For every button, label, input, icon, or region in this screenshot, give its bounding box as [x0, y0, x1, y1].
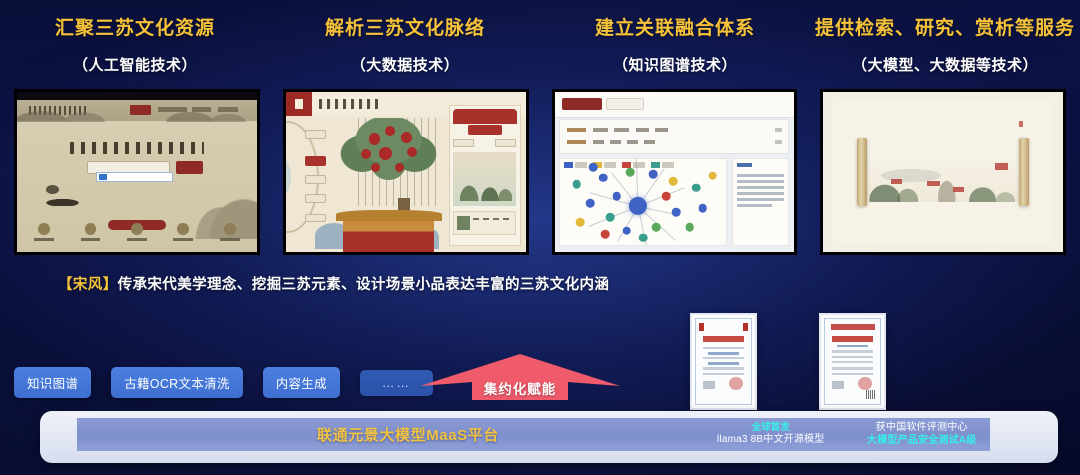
certificate-line: [703, 373, 745, 375]
tree-arc-item: [305, 175, 327, 184]
certificate-signature: [832, 381, 844, 389]
graph-tab-active: [562, 98, 603, 110]
graph-legend: [564, 162, 674, 168]
scroll-building: [953, 187, 964, 192]
pill-content-generation[interactable]: 内容生成: [263, 367, 340, 398]
tree-foliage: [338, 118, 439, 217]
screenshot-panel-portal: [14, 89, 260, 255]
certificate-line: [832, 350, 874, 352]
tree-pavilion: [343, 217, 434, 252]
screenshot-panel-knowledge-graph: [552, 89, 798, 255]
corner-bracket-icon: [1056, 89, 1066, 99]
caption-body: 传承宋代美学理念、挖掘三苏元素、设计场景小品表达丰富的三苏文化内涵: [118, 277, 610, 293]
tree-arc-item: [305, 194, 327, 203]
certificate-quality: [690, 313, 757, 410]
graph-node: [709, 171, 718, 180]
graph-node: [669, 177, 678, 186]
tree-panel-card: [453, 211, 516, 235]
tree-fruit-node: [385, 126, 395, 136]
graph-filter-expand-icon: [775, 140, 781, 144]
presentation-slide: 汇聚三苏文化资源 （人工智能技术） 解析三苏文化脉络 （大数据技术） 建立关联融…: [0, 0, 1080, 475]
certificate-security: [819, 313, 886, 410]
badge-line1: 获中国软件评测中心: [867, 422, 976, 435]
certificate-line: [832, 367, 874, 369]
heading-subtitle-2: （大数据技术）: [270, 54, 540, 75]
graph-filter-value: [593, 128, 608, 132]
corner-bracket-icon: [519, 245, 529, 255]
tree-arc-item-active: [305, 156, 327, 166]
graph-filter-value: [644, 140, 655, 144]
graph-info-line: [737, 180, 784, 183]
heading-column-1: 汇聚三苏文化资源 （人工智能技术）: [0, 0, 270, 88]
graph-node: [576, 218, 585, 227]
screenshot-panel-scroll-painting: [820, 89, 1066, 255]
arrow-label: 集约化赋能: [420, 378, 620, 398]
graph-filter-expand-icon: [775, 128, 781, 132]
scroll-canvas: [833, 102, 1054, 243]
graph-filter-row: [567, 138, 782, 147]
tree-detail-panel: [449, 105, 521, 246]
graph-node: [652, 223, 661, 232]
tree-arc-item: [305, 214, 327, 223]
graph-node: [586, 199, 595, 208]
certificate-border: [695, 318, 752, 405]
badge-global-first: 全球首发 llama3 8B中文开源模型: [717, 422, 824, 446]
heading-title-4: 提供检索、研究、赏析等服务: [810, 13, 1080, 40]
legend-entry: [564, 162, 587, 168]
graph-info-title: [737, 163, 751, 167]
graph-tabbar: [555, 92, 795, 118]
portal-icon-menu: [31, 223, 242, 247]
corner-bracket-icon: [250, 89, 260, 99]
corner-bracket-icon: [552, 245, 562, 255]
portal-menu-icon: [78, 223, 103, 247]
certificate-title: [832, 336, 874, 342]
certificate-line: [837, 345, 868, 348]
certificate-line: [832, 373, 874, 375]
graph-node: [649, 170, 658, 179]
heading-subtitle-1: （人工智能技术）: [0, 54, 270, 75]
graph-info-line: [737, 198, 784, 201]
enablement-arrow: 集约化赋能: [420, 352, 620, 400]
scroll-building: [891, 179, 902, 184]
legend-entry: [622, 162, 645, 168]
graph-node: [589, 163, 598, 172]
graph-info-line: [737, 186, 784, 189]
legend-entry: [651, 162, 674, 168]
tree-panel-painting: [453, 152, 516, 206]
portal-menu-icon: [124, 223, 149, 247]
heading-column-4: 提供检索、研究、赏析等服务 （大模型、大数据等技术）: [810, 0, 1080, 88]
certificate-title: [703, 336, 745, 342]
graph-node: [606, 213, 615, 222]
corner-bracket-icon: [1056, 245, 1066, 255]
portal-search-suggestion: [96, 172, 173, 182]
tree-fruit-node: [407, 147, 417, 157]
corner-bracket-icon: [14, 89, 24, 99]
graph-node: [692, 184, 701, 193]
tree-panel-roof: [453, 109, 517, 124]
heading-column-3: 建立关联融合体系 （知识图谱技术）: [540, 0, 810, 88]
graph-filter-value: [655, 128, 668, 132]
graph-filter-value: [636, 128, 649, 132]
badge-line2: llama3 8B中文开源模型: [717, 434, 824, 447]
certificate-emblem-icon: [699, 323, 704, 331]
graph-node: [601, 230, 610, 239]
scroll-roller-left: [857, 138, 867, 206]
badge-security-grade: 获中国软件评测中心 大模型产品安全测试A级: [867, 422, 976, 447]
certificate-line: [832, 356, 874, 358]
graph-filter-value: [614, 128, 629, 132]
heading-column-2: 解析三苏文化脉络 （大数据技术）: [270, 0, 540, 88]
graph-tab-inactive: [606, 98, 644, 110]
heading-title-1: 汇聚三苏文化资源: [0, 13, 270, 40]
headings-row: 汇聚三苏文化资源 （人工智能技术） 解析三苏文化脉络 （大数据技术） 建立关联融…: [0, 0, 1080, 88]
heading-subtitle-3: （知识图谱技术）: [540, 54, 810, 75]
platform-bar: 联通元景大模型MaaS平台 全球首发 llama3 8B中文开源模型 获中国软件…: [40, 411, 1058, 463]
certificate-qr-icon: [866, 390, 874, 399]
certificate-line: [703, 347, 745, 349]
graph-node: [626, 168, 635, 177]
graph-filter-row: [567, 125, 782, 134]
tree-panel-select: [495, 139, 516, 147]
portal-boat-artwork: [36, 190, 89, 206]
scroll-landscape: [862, 142, 1025, 201]
corner-bracket-icon: [519, 89, 529, 99]
graph-info-panel: [732, 158, 790, 246]
tree-fruit-node: [361, 149, 371, 159]
tree-panel-button: [468, 125, 502, 135]
screenshot-panel-knowledge-tree: [283, 89, 529, 255]
heading-title-3: 建立关联融合体系: [540, 13, 810, 40]
portal-menu-icon: [31, 223, 56, 247]
caption-text: 【宋风】传承宋代美学理念、挖掘三苏元素、设计场景小品表达丰富的三苏文化内涵: [0, 273, 1080, 294]
graph-filter-value: [627, 140, 638, 144]
graph-node: [672, 208, 681, 217]
tree-fruit-node: [401, 132, 412, 143]
scroll-painting-image: [823, 92, 1063, 252]
tree-title: [319, 99, 381, 109]
corner-bracket-icon: [283, 89, 293, 99]
graph-filter-area: [559, 119, 789, 154]
graph-node: [662, 192, 671, 201]
graph-node: [699, 204, 708, 213]
certificate-line: [832, 361, 874, 363]
badge-line1: 全球首发: [717, 422, 824, 434]
scroll-paper: [862, 142, 1025, 201]
tree-arc-item: [305, 130, 327, 139]
capability-pills: 知识图谱 古籍OCR文本清洗 内容生成 ……: [14, 367, 433, 398]
portal-header-mountains: [17, 100, 257, 122]
corner-bracket-icon: [283, 245, 293, 255]
graph-filter-label: [567, 128, 586, 132]
certificate-line: [708, 352, 739, 355]
graph-info-line: [737, 192, 784, 195]
certificate-border: [824, 318, 881, 405]
tree-fruit-node: [379, 147, 392, 160]
corner-bracket-icon: [787, 245, 797, 255]
graph-filter-value: [610, 140, 621, 144]
scroll-building: [995, 163, 1008, 170]
graph-info-line: [737, 174, 784, 177]
graph-node: [573, 180, 582, 189]
tree-panel-select: [453, 139, 474, 147]
corner-bracket-icon: [250, 245, 260, 255]
certificates-group: [690, 313, 886, 410]
graph-node: [599, 173, 608, 182]
certificate-stamp-icon: [858, 377, 872, 391]
scroll-building: [927, 181, 940, 186]
graph-node: [622, 227, 631, 236]
portal-menu-icon: [171, 223, 196, 247]
tree-fruit-node: [369, 133, 380, 144]
corner-bracket-icon: [820, 245, 830, 255]
corner-bracket-icon: [820, 89, 830, 99]
certificate-line: [703, 367, 745, 369]
screenshot-panels-row: [14, 89, 1066, 255]
graph-node: [639, 233, 648, 242]
graph-filter-label: [567, 140, 586, 144]
platform-band: 联通元景大模型MaaS平台 全球首发 llama3 8B中文开源模型 获中国软件…: [77, 418, 990, 451]
certificate-line: [703, 357, 745, 359]
pill-ocr-cleaning[interactable]: 古籍OCR文本清洗: [111, 367, 242, 398]
graph-canvas: [559, 158, 727, 246]
certificate-header: [831, 324, 875, 330]
graph-filter-value: [593, 140, 604, 144]
portal-menu-icon: [217, 223, 242, 247]
caption-highlight: 【宋风】: [58, 277, 118, 293]
knowledge-graph-image: [555, 92, 795, 252]
certificate-stamp-icon: [729, 377, 743, 391]
certificate-signature: [703, 381, 715, 389]
corner-bracket-icon: [552, 89, 562, 99]
scroll-roller-right: [1019, 138, 1029, 206]
knowledge-tree-image: [286, 92, 526, 252]
portal-calligraphy-slogan: [70, 142, 204, 155]
corner-bracket-icon: [787, 89, 797, 99]
platform-title: 联通元景大模型MaaS平台: [317, 424, 499, 445]
certificate-emblem-icon: [743, 323, 748, 331]
certificate-line: [708, 362, 739, 365]
portal-homepage-image: [17, 92, 257, 252]
tree-fruit-node: [395, 163, 404, 172]
pill-knowledge-graph[interactable]: 知识图谱: [14, 367, 91, 398]
badge-line2: 大模型产品安全测试A级: [867, 435, 976, 448]
graph-node: [612, 192, 621, 201]
corner-bracket-icon: [14, 245, 24, 255]
tree-fruit-node: [371, 163, 380, 172]
scroll-seal-icon: [1019, 121, 1023, 127]
graph-info-line: [737, 204, 771, 207]
graph-node: [685, 223, 694, 232]
heading-subtitle-4: （大模型、大数据等技术）: [810, 54, 1080, 75]
heading-title-2: 解析三苏文化脉络: [270, 13, 540, 40]
